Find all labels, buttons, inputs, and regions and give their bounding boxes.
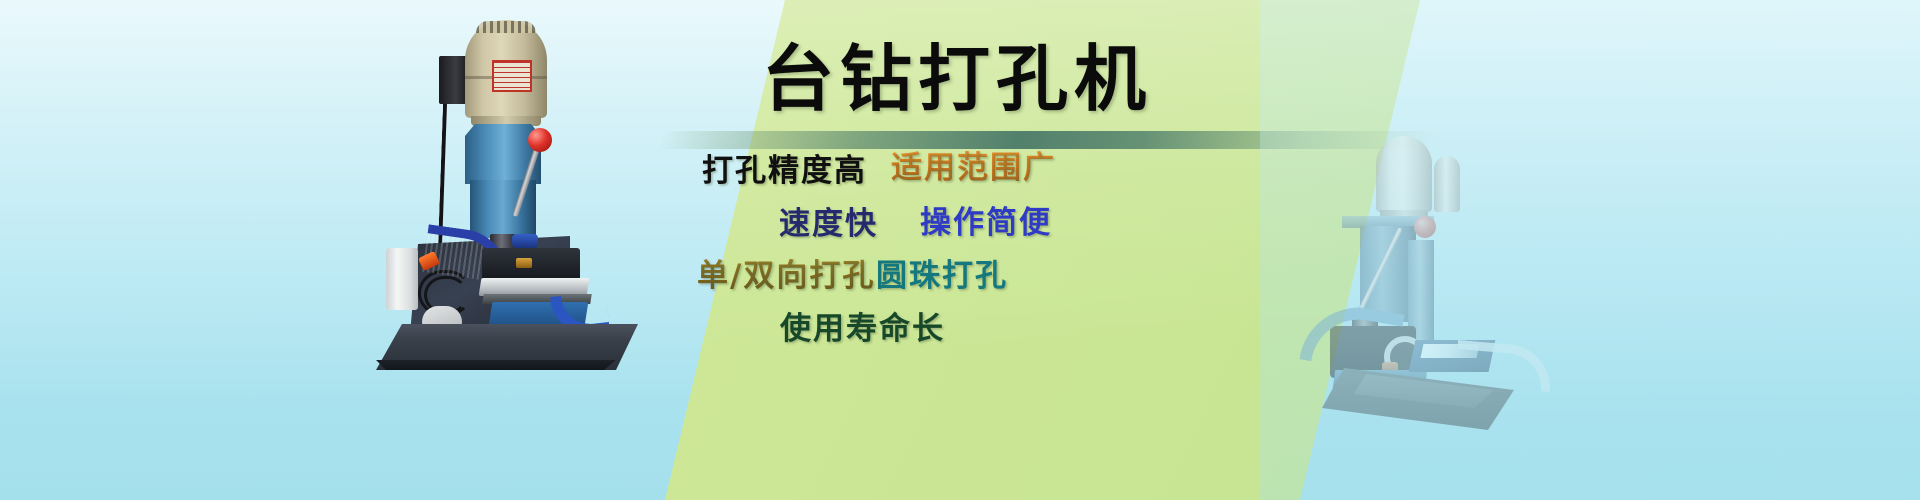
motor-vents: [476, 21, 536, 33]
clamp-bushing: [516, 258, 532, 268]
right-capacitor: [1434, 156, 1460, 212]
control-box: [386, 248, 418, 310]
product-banner: 台钻打孔机 打孔精度高 适用范围广 速度快 操作简便 单/双向打孔 圆珠打孔 使…: [0, 0, 1920, 500]
right-drill-column-2: [1408, 240, 1434, 340]
feature-lifespan: 使用寿命长: [780, 303, 945, 348]
feature-easy-operation: 操作简便: [920, 197, 1052, 242]
hose-connector: [512, 234, 538, 248]
feature-direction: 单/双向打孔: [697, 250, 875, 295]
feed-lever: [528, 128, 570, 214]
machine-base-edge: [376, 360, 616, 370]
feature-bead-drilling: 圆珠打孔: [876, 250, 1008, 295]
banner-title: 台钻打孔机: [762, 38, 1282, 120]
feature-range: 适用范围广: [891, 142, 1056, 187]
right-product-image: [1330, 130, 1630, 430]
right-motor-housing: [1376, 136, 1432, 212]
lever-ball-handle: [528, 128, 552, 152]
right-lever-ball: [1414, 216, 1436, 238]
feature-accuracy: 打孔精度高: [702, 145, 867, 190]
motor-spec-label: [492, 60, 532, 92]
left-product-image: [340, 8, 680, 378]
feature-speed: 速度快: [779, 198, 878, 243]
